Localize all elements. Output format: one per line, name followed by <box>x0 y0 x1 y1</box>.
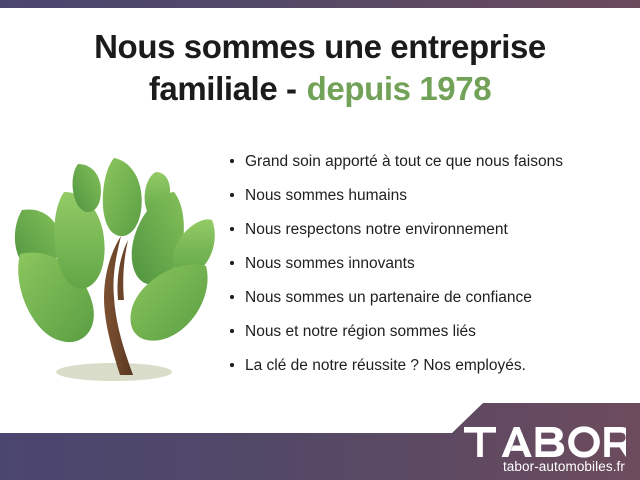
brand-website: tabor-automobiles.fr <box>464 458 626 476</box>
list-item: Nous sommes un partenaire de confiance <box>228 286 628 309</box>
list-item-label: Nous sommes un partenaire de confiance <box>245 289 532 306</box>
list-item: Nous sommes innovants <box>228 252 628 275</box>
list-item-label: Nous sommes humains <box>245 187 407 204</box>
list-item: Nous respectons notre environnement <box>228 218 628 241</box>
headline-line-2-main: familiale - <box>149 70 297 107</box>
footer-band: tabor-automobiles.fr <box>0 400 640 480</box>
bullet-icon <box>230 295 234 299</box>
bullet-icon <box>230 193 234 197</box>
tree-trunk-branch <box>117 240 128 300</box>
bullet-icon <box>230 363 234 367</box>
list-item-label: Nous respectons notre environnement <box>245 221 508 238</box>
slide-canvas: Nous sommes une entreprise familiale -de… <box>0 0 640 480</box>
list-item: Grand soin apporté à tout ce que nous fa… <box>228 150 628 173</box>
tree-trunk <box>104 236 133 375</box>
brand-wordmark <box>464 426 626 458</box>
list-item: Nous et notre région sommes liés <box>228 320 628 343</box>
list-item-label: La clé de notre réussite ? Nos employés. <box>245 357 526 374</box>
headline-line-2: familiale -depuis 1978 <box>0 68 640 110</box>
list-item-label: Nous et notre région sommes liés <box>245 323 476 340</box>
page-title: Nous sommes une entreprise familiale -de… <box>0 26 640 109</box>
list-item-label: Grand soin apporté à tout ce que nous fa… <box>245 153 563 170</box>
leaf-top-center <box>103 158 142 236</box>
list-item-label: Nous sommes innovants <box>245 255 415 272</box>
bullet-icon <box>230 159 234 163</box>
brand-logo: tabor-automobiles.fr <box>464 426 626 476</box>
bullet-icon <box>230 329 234 333</box>
list-item: Nous sommes humains <box>228 184 628 207</box>
top-accent-bar <box>0 0 640 8</box>
list-item: La clé de notre réussite ? Nos employés. <box>228 354 628 377</box>
headline-accent-year: depuis 1978 <box>307 70 492 107</box>
headline-line-1: Nous sommes une entreprise <box>0 26 640 68</box>
bullet-icon <box>230 227 234 231</box>
tree-shadow <box>56 363 172 381</box>
tree-illustration <box>8 150 223 390</box>
bullet-icon <box>230 261 234 265</box>
benefits-list: Grand soin apporté à tout ce que nous fa… <box>228 150 628 377</box>
